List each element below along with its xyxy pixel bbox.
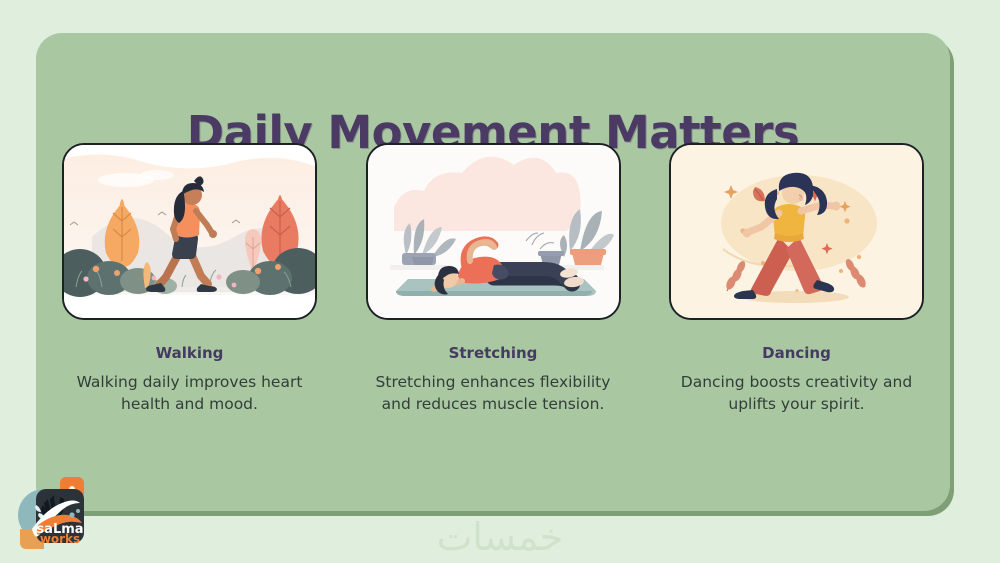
walking-thumbnail [62,143,317,320]
card-stretching[interactable]: Stretching Stretching enhances flexibili… [366,143,621,415]
watermark-text: خمسات [0,515,1000,559]
stretching-thumbnail [366,143,621,320]
card-walking[interactable]: Walking Walking daily improves heart hea… [62,143,317,415]
logo-mark: saLma works [10,475,102,555]
card-heading: Dancing [669,344,924,362]
dancing-thumbnail [669,143,924,320]
card-body: Walking daily improves heart health and … [62,371,317,415]
logo-text-works: works [40,532,80,546]
salma-works-logo[interactable]: saLma works [10,475,102,555]
card-heading: Stretching [366,344,621,362]
cards-row: Walking Walking daily improves heart hea… [62,143,924,415]
content-panel: Daily Movement Matters [36,33,950,511]
card-body: Stretching enhances flexibility and redu… [366,371,621,415]
card-dancing[interactable]: Dancing Dancing boosts creativity and up… [669,143,924,415]
card-body: Dancing boosts creativity and uplifts yo… [669,371,924,415]
stretching-illustration [368,145,619,318]
card-heading: Walking [62,344,317,362]
walking-illustration [64,145,315,318]
dancing-illustration [671,145,922,318]
